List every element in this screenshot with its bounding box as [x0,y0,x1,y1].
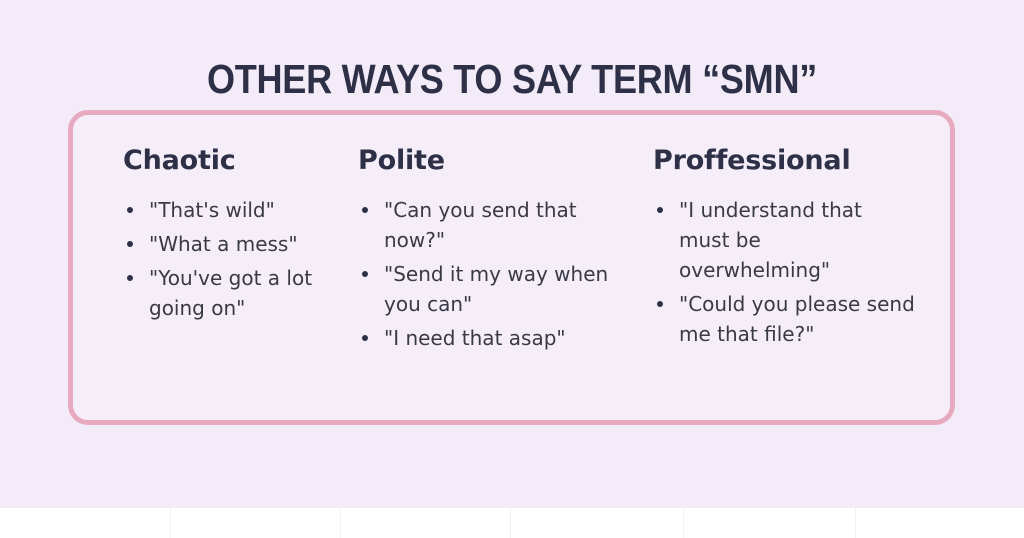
filmstrip-divider [683,508,684,538]
column-chaotic: Chaotic "That's wild" "What a mess" "You… [123,145,338,327]
list-item-text: "Send it my way when you can" [384,262,608,316]
column-polite: Polite "Can you send that now?" "Send it… [358,145,628,357]
list-item-text: "Could you please send me that file?" [679,292,915,346]
bullet-icon [657,207,663,213]
column-list: "Can you send that now?" "Send it my way… [358,195,628,353]
list-item: "Could you please send me that file?" [653,289,918,349]
slide-filmstrip[interactable] [0,508,1024,538]
list-item: "What a mess" [123,229,338,259]
column-heading: Polite [358,145,628,177]
list-item: "That's wild" [123,195,338,225]
bullet-icon [362,335,368,341]
filmstrip-divider [510,508,511,538]
column-proffessional: Proffessional "I understand that must be… [653,145,918,353]
list-item-text: "I need that asap" [384,326,566,350]
list-item-text: "That's wild" [149,198,275,222]
list-item: "Can you send that now?" [358,195,628,255]
filmstrip-divider [340,508,341,538]
list-item-text: "I understand that must be overwhelming" [679,198,862,282]
list-item: "You've got a lot going on" [123,263,338,323]
bullet-icon [657,301,663,307]
column-heading: Chaotic [123,145,338,177]
list-item: "I need that asap" [358,323,628,353]
filmstrip-divider [855,508,856,538]
column-heading: Proffessional [653,145,918,177]
bullet-icon [362,207,368,213]
column-list: "That's wild" "What a mess" "You've got … [123,195,338,323]
page-title: OTHER WAYS TO SAY TERM “SMN” [61,53,962,105]
list-item-text: "You've got a lot going on" [149,266,312,320]
columns-container: Chaotic "That's wild" "What a mess" "You… [73,115,960,430]
list-item-text: "What a mess" [149,232,298,256]
bullet-icon [362,271,368,277]
list-item-text: "Can you send that now?" [384,198,577,252]
list-item: "I understand that must be overwhelming" [653,195,918,285]
content-card: Chaotic "That's wild" "What a mess" "You… [68,110,955,425]
list-item: "Send it my way when you can" [358,259,628,319]
bullet-icon [127,207,133,213]
bullet-icon [127,275,133,281]
bullet-icon [127,241,133,247]
filmstrip-divider [170,508,171,538]
slide-canvas: OTHER WAYS TO SAY TERM “SMN” Chaotic "Th… [0,0,1024,538]
column-list: "I understand that must be overwhelming"… [653,195,918,349]
